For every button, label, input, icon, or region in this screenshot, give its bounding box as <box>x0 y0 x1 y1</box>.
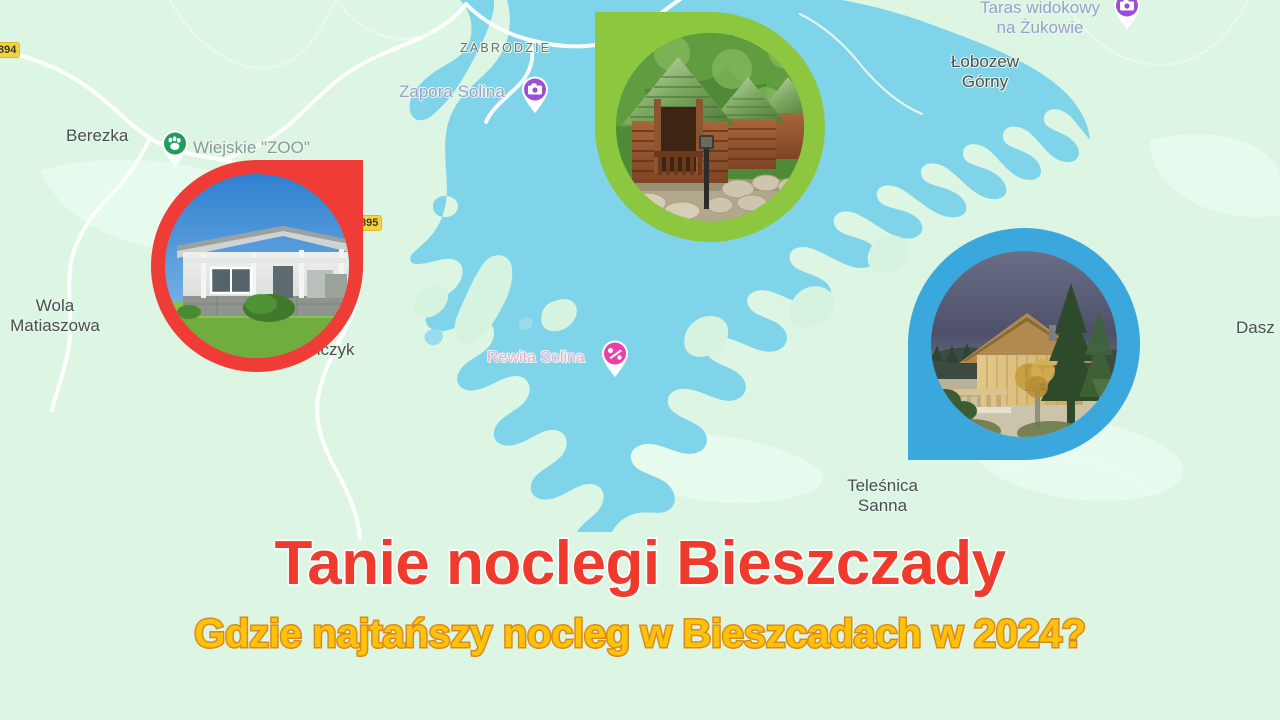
rewita-spa-marker[interactable] <box>600 340 630 378</box>
guesthouse-photo <box>165 174 349 358</box>
photo-bubble-guesthouse[interactable] <box>151 160 363 372</box>
promo-banner: 894 895 Berezka Wola Matiaszowa Polańczy… <box>0 0 1280 720</box>
photo-bubble-mountain-chalet[interactable] <box>908 228 1140 460</box>
zapora-camera-marker[interactable] <box>520 76 550 114</box>
spa-icon <box>600 340 630 378</box>
camera-icon <box>520 76 550 114</box>
road-shield-894: 894 <box>0 42 20 58</box>
photo-bubble-log-cabins[interactable] <box>595 12 825 242</box>
mountain-chalet-photo <box>931 251 1117 437</box>
log-cabins-photo <box>616 33 804 221</box>
camera-icon <box>1112 0 1142 30</box>
taras-camera-marker[interactable] <box>1112 0 1142 30</box>
